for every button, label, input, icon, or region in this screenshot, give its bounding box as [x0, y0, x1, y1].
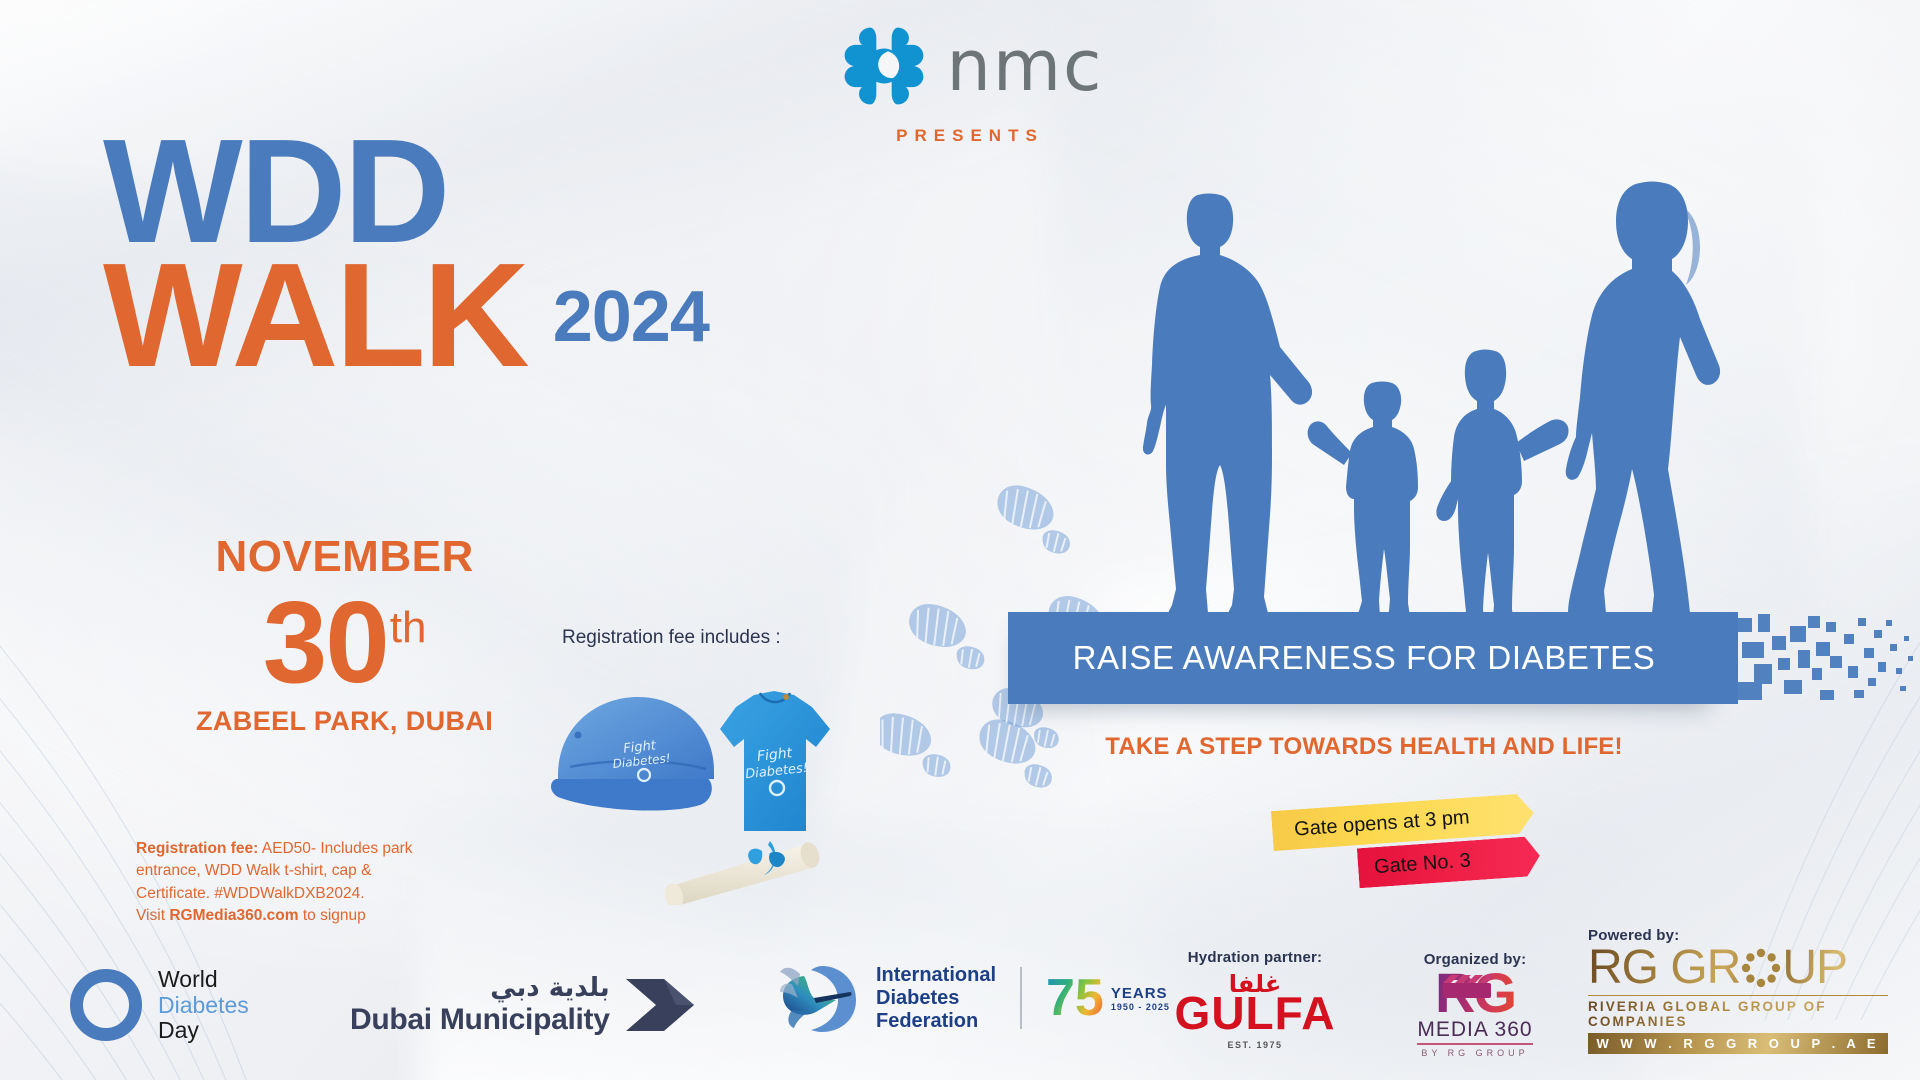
- idf-years-number: 75: [1046, 976, 1104, 1020]
- idf-anniversary-mark: 75 YEARS 1950 - 2025: [1046, 976, 1170, 1020]
- headline-year: 2024: [553, 276, 709, 384]
- headline-walk: WALK: [103, 248, 527, 384]
- gate-info-ribbons: Gate opens at 3 pm Gate No. 3: [1272, 798, 1612, 908]
- merchandise-label: Registration fee includes :: [562, 627, 781, 649]
- rg-media-byline: BY RG GROUP: [1382, 1048, 1568, 1058]
- tshirt-icon: Fight Diabetes!: [720, 691, 830, 831]
- partner-logo-bar: World Diabetes Day بلدية دبي Dubai Munic…: [0, 910, 1920, 1080]
- rg-group-name-head: RG GR: [1588, 944, 1740, 992]
- rg-group-name-tail: UP: [1782, 944, 1847, 992]
- wdd-line3: Day: [158, 1018, 249, 1044]
- idf-name-line1: International: [876, 964, 996, 987]
- wdd-line1: World: [158, 967, 249, 993]
- logo-gulfa: Hydration partner: غلفا GULFA EST. 1975: [1160, 949, 1350, 1050]
- idf-name-line2: Diabetes: [876, 987, 996, 1010]
- gate-number-ribbon: Gate No. 3: [1357, 836, 1541, 889]
- wdd-line2: Diabetes: [158, 993, 249, 1019]
- idf-name-line3: Federation: [876, 1010, 996, 1033]
- event-headline: WDD WALK 2024: [103, 124, 709, 384]
- event-tagline: TAKE A STEP TOWARDS HEALTH AND LIFE!: [1008, 733, 1720, 761]
- nmc-flower-icon: [836, 18, 932, 114]
- girl-silhouette: [1436, 350, 1568, 626]
- clapperboard-icon: [1441, 974, 1493, 1000]
- logo-divider: [1020, 967, 1022, 1029]
- presents-label: PRESENTS: [790, 126, 1150, 146]
- gear-ring-icon: [1741, 948, 1781, 988]
- gulfa-established: EST. 1975: [1160, 1040, 1350, 1050]
- nmc-wordmark: nmc: [946, 38, 1103, 94]
- certificate-scroll-icon: [662, 840, 822, 905]
- awareness-banner-text: RAISE AWARENESS FOR DIABETES: [1073, 639, 1656, 677]
- event-day-suffix: th: [390, 606, 427, 650]
- rg-group-subtitle: RIVERIA GLOBAL GROUP OF COMPANIES: [1588, 995, 1888, 1029]
- logo-international-diabetes-federation: International Diabetes Federation 75 YEA…: [778, 958, 1170, 1038]
- hummingbird-icon: [778, 958, 862, 1038]
- poster-canvas: nmc PRESENTS WDD WALK 2024 NOVEMBER 30 t…: [0, 0, 1920, 1080]
- event-date-block: NOVEMBER 30 th ZABEEL PARK, DUBAI: [196, 532, 493, 737]
- family-walking-silhouette: [1120, 165, 1780, 625]
- boy-silhouette: [1308, 382, 1418, 618]
- logo-world-diabetes-day: World Diabetes Day: [70, 967, 249, 1044]
- chevron-arrow-mark-icon: [624, 975, 696, 1035]
- event-month: NOVEMBER: [196, 532, 493, 582]
- banner-splatter-decoration: [1668, 598, 1920, 728]
- blue-ring-icon: [70, 969, 142, 1041]
- dubai-municipality-english: Dubai Municipality: [350, 1003, 610, 1036]
- logo-dubai-municipality: بلدية دبي Dubai Municipality: [350, 974, 696, 1036]
- gate-opening-text: Gate opens at 3 pm: [1293, 806, 1470, 841]
- gulfa-wordmark: GULFA: [1160, 992, 1350, 1036]
- registration-fee-label: Registration fee:: [136, 840, 258, 857]
- logo-rg-group: Powered by: RG GR UP RIVERIA GLOBAL GROU…: [1588, 927, 1888, 1054]
- event-venue: ZABEEL PARK, DUBAI: [196, 706, 493, 737]
- sponsor-header: nmc PRESENTS: [790, 18, 1150, 146]
- gate-number-text: Gate No. 3: [1373, 849, 1471, 879]
- awareness-banner: RAISE AWARENESS FOR DIABETES: [1008, 612, 1720, 704]
- hydration-partner-caption: Hydration partner:: [1160, 949, 1350, 966]
- awareness-banner-wrapper: RAISE AWARENESS FOR DIABETES: [1008, 612, 1868, 704]
- dubai-municipality-arabic: بلدية دبي: [350, 974, 610, 1003]
- rg-group-wordmark: RG GR UP: [1588, 944, 1888, 992]
- merchandise-illustration: Fight Diabetes! Fight Diabetes!: [548, 655, 848, 905]
- logo-rg-media-360: Organized by: RG MEDIA 360 BY RG GROUP: [1382, 951, 1568, 1058]
- cap-icon: Fight Diabetes!: [551, 697, 714, 811]
- event-day: 30: [263, 584, 388, 700]
- mother-silhouette: [1566, 182, 1720, 614]
- rg-group-url[interactable]: W W W . R G G R O U P . A E: [1588, 1033, 1888, 1054]
